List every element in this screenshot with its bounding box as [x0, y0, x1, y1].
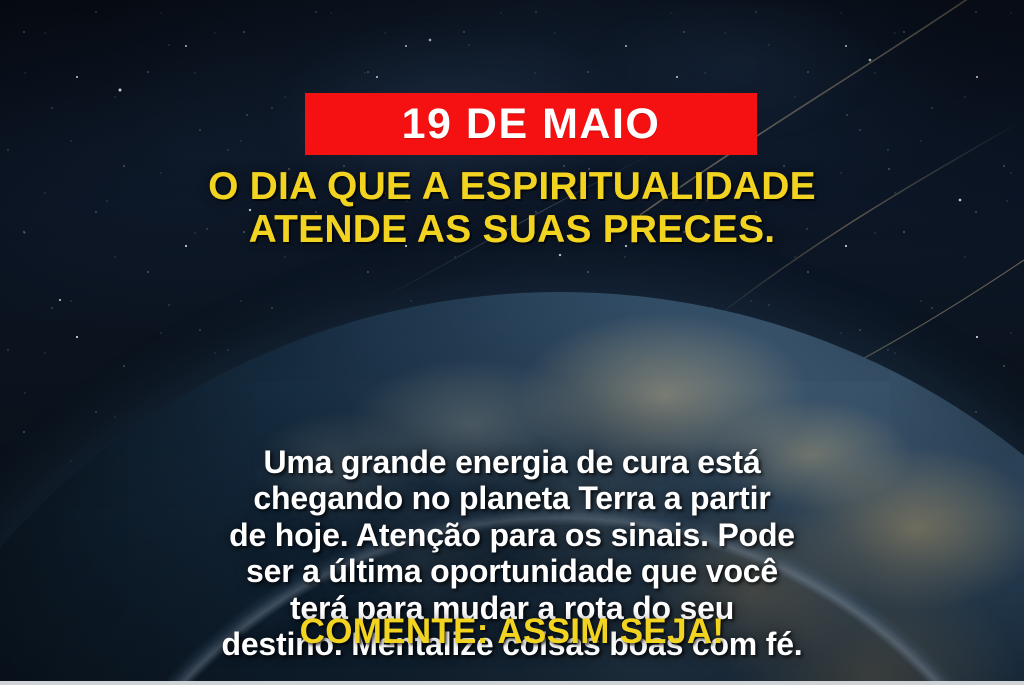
body-copy-line-3: de hoje. Atenção para os sinais. Pode — [50, 517, 974, 553]
headline-line-2: ATENDE AS SUAS PRECES. — [0, 209, 1024, 252]
body-copy-line-4: ser a última oportunidade que você — [50, 553, 974, 589]
poster-canvas: 19 DE MAIO O DIA QUE A ESPIRITUALIDADE A… — [0, 0, 1024, 685]
body-copy-line-2: chegando no planeta Terra a partir — [50, 480, 974, 516]
bottom-divider — [0, 681, 1024, 685]
poster-content: 19 DE MAIO O DIA QUE A ESPIRITUALIDADE A… — [0, 0, 1024, 685]
headline: O DIA QUE A ESPIRITUALIDADE ATENDE AS SU… — [0, 166, 1024, 251]
headline-line-1: O DIA QUE A ESPIRITUALIDADE — [0, 166, 1024, 209]
date-banner: 19 DE MAIO — [305, 93, 757, 155]
call-to-action: COMENTE: ASSIM SEJA! — [0, 614, 1024, 649]
date-banner-label: 19 DE MAIO — [402, 103, 661, 146]
body-copy-line-1: Uma grande energia de cura está — [50, 444, 974, 480]
